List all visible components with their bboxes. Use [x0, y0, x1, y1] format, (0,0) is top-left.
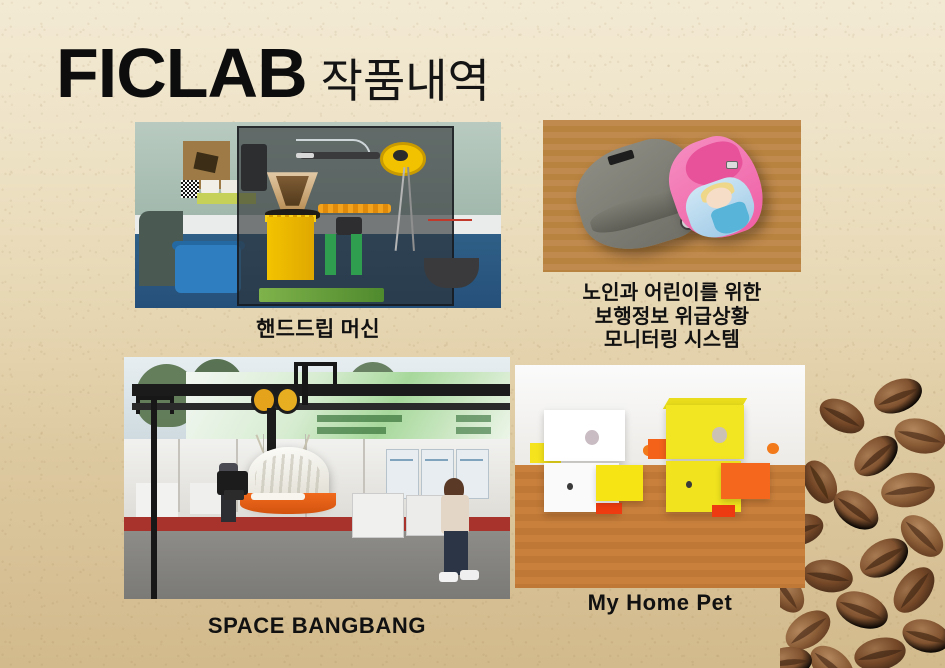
p1-actuator-tip	[296, 153, 314, 159]
caption-space-bangbang: SPACE BANGBANG	[124, 613, 510, 639]
title-sub-text: 작품내역	[321, 58, 490, 104]
caption-walking-info-monitoring: 노인과 어린이를 위한 보행정보 위급상황 모니터링 시스템	[531, 282, 813, 353]
p3-poster-line-2	[425, 459, 448, 461]
p1-orange-tray	[318, 204, 391, 213]
p1-festival-label	[259, 288, 383, 303]
p3-poster-line-1	[390, 459, 413, 461]
p3-gantry-rail-upper	[132, 384, 510, 396]
p3-banner-text-line3	[456, 415, 491, 422]
p3-hull-stripe	[251, 493, 305, 500]
p3-gantry-post-mid	[302, 362, 309, 406]
p3-banner-text-line1	[317, 415, 402, 422]
p3-banner-text-line4	[456, 427, 491, 434]
p1-frame-left	[325, 234, 336, 275]
p1-bin	[175, 245, 241, 293]
caption-hand-drip-machine: 핸드드립 머신	[135, 318, 501, 343]
p3-camera-mount	[224, 490, 243, 500]
p3-poster-line-3	[460, 459, 483, 461]
p3-podium-c	[352, 493, 404, 539]
caption-my-home-pet: My Home Pet	[515, 590, 805, 616]
p3-gantry-post-left	[151, 396, 157, 599]
p1-frame-right	[351, 234, 362, 275]
p3-walking-woman-torso	[441, 495, 470, 534]
photo-my-home-pet[interactable]	[515, 365, 805, 588]
page-title: FICLAB 작품내역	[56, 38, 490, 108]
p4-yellow-robot-head	[666, 405, 744, 459]
p4-white-robot-wing	[596, 465, 642, 501]
p2-pink-sensor-button	[726, 161, 738, 169]
title-main-text: FICLAB	[56, 38, 307, 108]
p4-yellow-robot-foot	[712, 505, 735, 516]
p4-white-robot-indicator	[567, 483, 573, 490]
photo-space-bangbang[interactable]	[124, 357, 510, 599]
p1-wire-red	[428, 219, 472, 221]
p4-yellow-robot-wing	[721, 463, 770, 499]
p1-metal-bowl	[424, 258, 479, 288]
p4-yellow-robot-eye	[712, 427, 727, 443]
photo-hand-drip-machine[interactable]	[135, 122, 501, 308]
p3-walking-woman-shoe-left	[439, 572, 458, 582]
p3-banner-text-line2	[317, 427, 386, 434]
p1-yellow-cup	[267, 217, 315, 280]
p4-yellow-robot-indicator	[686, 481, 692, 488]
p4-yellow-robot-tail	[767, 443, 779, 454]
p3-tent-divider-1	[178, 439, 180, 512]
p3-signal-light-right	[275, 386, 300, 414]
p1-wheel-hub	[393, 150, 408, 161]
p3-walking-woman-shoe-right	[460, 570, 479, 580]
slide-canvas: FICLAB 작품내역 핸드드	[0, 0, 945, 668]
p3-walking-woman-legs	[444, 531, 467, 575]
p4-white-robot-foot	[596, 503, 622, 514]
p3-gantry-rail-lower	[132, 403, 510, 410]
p3-suspension-stem	[267, 408, 277, 452]
photo-walking-info-monitoring[interactable]	[543, 120, 801, 272]
